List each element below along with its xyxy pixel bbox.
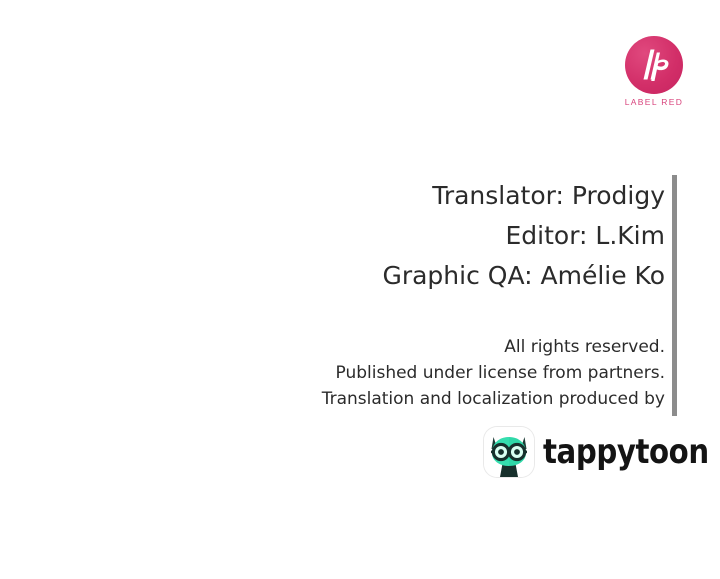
legal-line-rights: All rights reserved. [105,334,665,360]
tappytoon-logo: tappytoon [484,427,720,477]
credit-line-editor: Editor: L.Kim [105,216,665,256]
vertical-divider [672,175,677,416]
legal-block: All rights reserved. Published under lic… [105,334,665,412]
tappytoon-app-icon [484,427,534,477]
credit-line-graphic-qa: Graphic QA: Amélie Ko [105,256,665,296]
tappytoon-cat-icon [484,427,534,477]
credit-line-translator: Translator: Prodigy [105,176,665,216]
credits-block: Translator: Prodigy Editor: L.Kim Graphi… [105,176,665,296]
legal-line-license: Published under license from partners. [105,360,665,386]
legal-line-produced-by: Translation and localization produced by [105,386,665,412]
tappytoon-wordmark: tappytoon [543,435,709,469]
label-red-circle-icon [625,36,683,94]
credits-page: LABEL RED Translator: Prodigy Editor: L.… [0,0,720,579]
label-red-wordmark: LABEL RED [616,97,692,107]
label-red-monogram-icon [625,36,683,94]
label-red-logo: LABEL RED [616,36,692,112]
